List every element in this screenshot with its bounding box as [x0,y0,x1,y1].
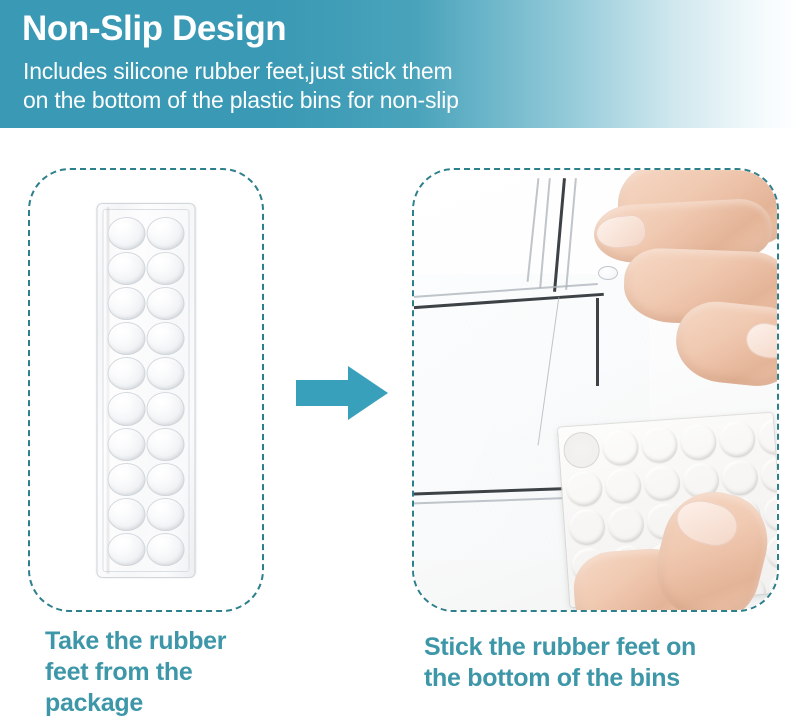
rubber-foot [108,533,146,566]
silicone-dot [640,425,678,463]
rubber-foot [147,463,185,496]
step-1-image [30,170,262,610]
step-2-caption: Stick the rubber feet on the bottom of t… [424,632,784,694]
step-2-caption-line-1: Stick the rubber feet on [424,632,784,663]
rubber-foot [108,252,146,285]
step-1-caption: Take the rubber feet from the package [45,626,335,719]
rubber-foot [147,498,185,531]
rubber-foot [108,217,146,250]
rubber-foot [147,357,185,390]
blister-tray [98,204,195,577]
rubber-foot [108,357,146,390]
silicone-dot [721,459,759,497]
step-1-panel [28,168,264,612]
bin-edge [539,178,551,288]
infographic-root: Non-Slip Design Includes silicone rubber… [0,0,800,723]
arrow-right-icon [296,366,388,420]
rubber-foot [108,428,146,461]
step-2-caption-line-2: the bottom of the bins [424,663,784,694]
rubber-foot [147,428,185,461]
rubber-feet-grid [107,216,186,567]
step-1-caption-line-3: package [45,688,335,719]
silicone-dot [679,423,717,461]
header-banner: Non-Slip Design Includes silicone rubber… [0,0,800,128]
bin-edge [527,178,540,282]
rubber-foot [108,322,146,355]
silicone-dot [718,420,756,458]
rubber-foot [108,287,146,320]
rubber-foot [147,217,185,250]
rubber-foot [147,392,185,425]
page-title: Non-Slip Design [22,7,286,51]
bin-scene [414,170,777,610]
silicone-dot [601,428,639,466]
hand-holding-sheet [564,496,777,610]
step-1-caption-line-1: Take the rubber [45,626,335,657]
step-1-caption-line-2: feet from the [45,657,335,688]
rubber-foot [108,498,146,531]
rubber-foot [108,392,146,425]
rubber-foot [147,252,185,285]
silicone-dot [562,431,600,469]
header-subtitle-line-2: on the bottom of the plastic bins for no… [23,86,459,115]
rubber-foot [147,322,185,355]
step-2-panel [412,168,779,612]
rubber-foot [147,533,185,566]
step-2-image [414,170,777,610]
hand-pressing-foot [590,170,777,388]
header-subtitle: Includes silicone rubber feet,just stick… [23,57,459,115]
silicone-dot [760,456,777,494]
rubber-foot [147,287,185,320]
rubber-foot [108,463,146,496]
foot-being-applied [598,266,618,280]
header-subtitle-line-1: Includes silicone rubber feet,just stick… [23,57,459,86]
